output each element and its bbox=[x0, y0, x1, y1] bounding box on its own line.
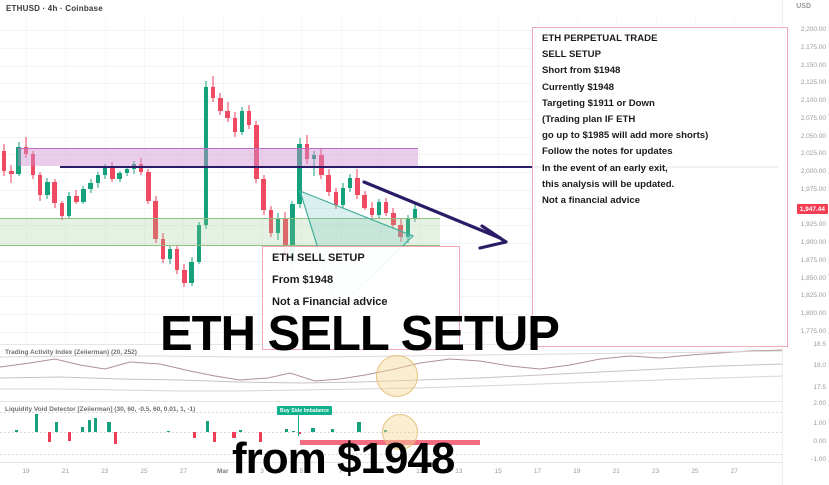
lvd-tick: 2.00 bbox=[813, 400, 826, 407]
time-tick: 19 bbox=[573, 468, 580, 475]
lvd-bar bbox=[107, 422, 110, 432]
candle bbox=[60, 14, 64, 344]
candle-body bbox=[96, 175, 100, 183]
note-mid-lines: ETH SELL SETUPFrom $1948Not a Financial … bbox=[272, 253, 450, 308]
price-tick: 2,175.00 bbox=[801, 44, 826, 51]
note-line: (Trading plan IF ETH bbox=[542, 115, 778, 125]
price-tick: 2,000.00 bbox=[801, 168, 826, 175]
price-tick: 1,925.00 bbox=[801, 221, 826, 228]
price-axis[interactable]: 2,200.002,175.002,150.002,125.002,100.00… bbox=[782, 0, 829, 485]
candle-wick bbox=[11, 165, 12, 183]
lvd-bar bbox=[55, 422, 58, 432]
candle bbox=[117, 14, 121, 344]
time-tick: 21 bbox=[613, 468, 620, 475]
candle-body bbox=[2, 151, 6, 171]
candle bbox=[74, 14, 78, 344]
time-tick: 13 bbox=[455, 468, 462, 475]
candle-body bbox=[117, 173, 121, 179]
candle-body bbox=[175, 249, 179, 270]
note-line: Not a financial advice bbox=[542, 196, 778, 206]
tai-title: Trading Activity Index (Zeiierman) (20, … bbox=[5, 349, 137, 356]
lvd-bar bbox=[15, 430, 18, 432]
lvd-bar bbox=[48, 432, 51, 442]
candle bbox=[81, 14, 85, 344]
candle-body bbox=[88, 183, 92, 189]
candle bbox=[182, 14, 186, 344]
price-tick: 1,875.00 bbox=[801, 257, 826, 264]
note-line: From $1948 bbox=[272, 275, 450, 286]
candle bbox=[153, 14, 157, 344]
candle-body bbox=[67, 196, 71, 216]
overlay-title-line2: from $1948 bbox=[232, 437, 454, 481]
lvd-bar bbox=[81, 427, 84, 433]
lvd-tick: 1.00 bbox=[813, 420, 826, 427]
candle bbox=[139, 14, 143, 344]
time-tick: 25 bbox=[140, 468, 147, 475]
lvd-bar bbox=[68, 432, 71, 441]
price-tick: 1,850.00 bbox=[801, 275, 826, 282]
candle bbox=[146, 14, 150, 344]
candle bbox=[24, 14, 28, 344]
lvd-bar bbox=[193, 432, 196, 438]
lvd-bar bbox=[331, 429, 334, 432]
candle-body bbox=[225, 111, 229, 118]
price-tick: 1,900.00 bbox=[801, 239, 826, 246]
candle bbox=[168, 14, 172, 344]
price-tick: 2,150.00 bbox=[801, 62, 826, 69]
note-line: Follow the notes for updates bbox=[542, 147, 778, 157]
time-tick: 17 bbox=[534, 468, 541, 475]
lvd-bar bbox=[167, 431, 170, 432]
time-tick: 27 bbox=[180, 468, 187, 475]
tai-tick: 18.0 bbox=[813, 362, 826, 369]
candle bbox=[225, 14, 229, 344]
imbalance-stem bbox=[298, 414, 299, 436]
candle-body bbox=[218, 98, 222, 111]
candle bbox=[2, 14, 6, 344]
highlight-circle-tai bbox=[376, 355, 418, 397]
candle bbox=[31, 14, 35, 344]
candle bbox=[96, 14, 100, 344]
candle-body bbox=[211, 87, 215, 98]
tai-tick: 18.5 bbox=[813, 341, 826, 348]
candle bbox=[67, 14, 71, 344]
candle-body bbox=[110, 166, 114, 179]
candle-body bbox=[60, 203, 64, 216]
candle bbox=[9, 14, 13, 344]
lvd-bar bbox=[94, 418, 97, 432]
note-line: ETH SELL SETUP bbox=[272, 253, 450, 264]
candle-body bbox=[9, 171, 13, 174]
price-tick: 2,100.00 bbox=[801, 97, 826, 104]
price-tick: 1,800.00 bbox=[801, 310, 826, 317]
time-gridline bbox=[223, 14, 224, 344]
note-line: Short from $1948 bbox=[542, 66, 778, 76]
note-eth-perpetual-trade[interactable]: ETH PERPETUAL TRADESELL SETUPShort from … bbox=[532, 27, 788, 347]
time-tick: Mar bbox=[217, 468, 229, 475]
price-tick: 2,200.00 bbox=[801, 26, 826, 33]
price-tick: 2,075.00 bbox=[801, 115, 826, 122]
note-line: SELL SETUP bbox=[542, 50, 778, 60]
note-right-lines: ETH PERPETUAL TRADESELL SETUPShort from … bbox=[542, 34, 778, 205]
candle bbox=[125, 14, 129, 344]
candle-body bbox=[74, 196, 78, 202]
note-line: ETH PERPETUAL TRADE bbox=[542, 34, 778, 44]
candle-body bbox=[261, 179, 265, 210]
lvd-title: Liquidity Void Detector [Zeiierman] (30,… bbox=[5, 406, 195, 413]
price-tick: 1,825.00 bbox=[801, 292, 826, 299]
time-tick: 21 bbox=[62, 468, 69, 475]
price-tick: 2,125.00 bbox=[801, 79, 826, 86]
candle-body bbox=[240, 111, 244, 132]
price-tick: 2,025.00 bbox=[801, 150, 826, 157]
candle bbox=[38, 14, 42, 344]
note-line: go up to $1985 will add more shorts) bbox=[542, 131, 778, 141]
candle bbox=[211, 14, 215, 344]
price-tick: 2,050.00 bbox=[801, 133, 826, 140]
lvd-bar bbox=[35, 414, 38, 432]
lvd-bar bbox=[285, 429, 288, 432]
tai-tick: 17.5 bbox=[813, 384, 826, 391]
candle-body bbox=[189, 262, 193, 283]
lvd-bar bbox=[357, 422, 360, 432]
time-gridline bbox=[144, 14, 145, 344]
lvd-bar bbox=[292, 431, 295, 432]
note-line: Targeting $1911 or Down bbox=[542, 99, 778, 109]
price-tick: 1,975.00 bbox=[801, 186, 826, 193]
candle bbox=[103, 14, 107, 344]
candle-body bbox=[125, 169, 129, 173]
candle-body bbox=[146, 172, 150, 200]
price-tick: 1,775.00 bbox=[801, 328, 826, 335]
time-tick: 27 bbox=[731, 468, 738, 475]
tradingview-chart-screenshot: ETHUSD · 4h · Coinbase USD bbox=[0, 0, 829, 485]
lvd-bar bbox=[206, 421, 209, 432]
time-tick: 23 bbox=[101, 468, 108, 475]
candle-body bbox=[52, 182, 56, 203]
overlay-title-line1: ETH SELL SETUP bbox=[160, 310, 559, 359]
time-tick: 19 bbox=[22, 468, 29, 475]
candle-body bbox=[233, 118, 237, 132]
time-tick: 23 bbox=[652, 468, 659, 475]
candle bbox=[233, 14, 237, 344]
candle bbox=[204, 14, 208, 344]
lvd-bar bbox=[213, 432, 216, 442]
candle bbox=[16, 14, 20, 344]
lvd-tick: -1.00 bbox=[811, 456, 826, 463]
lvd-bar bbox=[88, 420, 91, 432]
resistance-zone bbox=[18, 148, 418, 166]
candle bbox=[52, 14, 56, 344]
candle-body bbox=[247, 111, 251, 125]
candle-body bbox=[81, 189, 85, 202]
candle bbox=[175, 14, 179, 344]
time-tick: 25 bbox=[691, 468, 698, 475]
candle bbox=[254, 14, 258, 344]
lvd-bar bbox=[114, 432, 117, 444]
candle-body bbox=[38, 175, 42, 195]
candle-body bbox=[182, 270, 186, 283]
note-line: In the event of an early exit, bbox=[542, 164, 778, 174]
candle-body bbox=[168, 249, 172, 259]
candle bbox=[240, 14, 244, 344]
candle bbox=[110, 14, 114, 344]
note-line: Currently $1948 bbox=[542, 83, 778, 93]
candle bbox=[189, 14, 193, 344]
candle bbox=[45, 14, 49, 344]
current-price-badge: 1,947.44 bbox=[797, 204, 828, 214]
candle-body bbox=[45, 182, 49, 195]
note-line: this analysis will be updated. bbox=[542, 180, 778, 190]
candle bbox=[197, 14, 201, 344]
candle bbox=[218, 14, 222, 344]
currency-label: USD bbox=[796, 3, 811, 10]
buy-side-imbalance-tag: Buy Side Imbalance bbox=[277, 406, 332, 415]
lvd-tick: 0.00 bbox=[813, 438, 826, 445]
candle bbox=[247, 14, 251, 344]
candle bbox=[132, 14, 136, 344]
candle bbox=[88, 14, 92, 344]
symbol-header: ETHUSD · 4h · Coinbase bbox=[6, 4, 103, 13]
candle bbox=[161, 14, 165, 344]
lvd-bar bbox=[311, 428, 314, 432]
lvd-bar bbox=[239, 430, 242, 432]
time-tick: 15 bbox=[495, 468, 502, 475]
